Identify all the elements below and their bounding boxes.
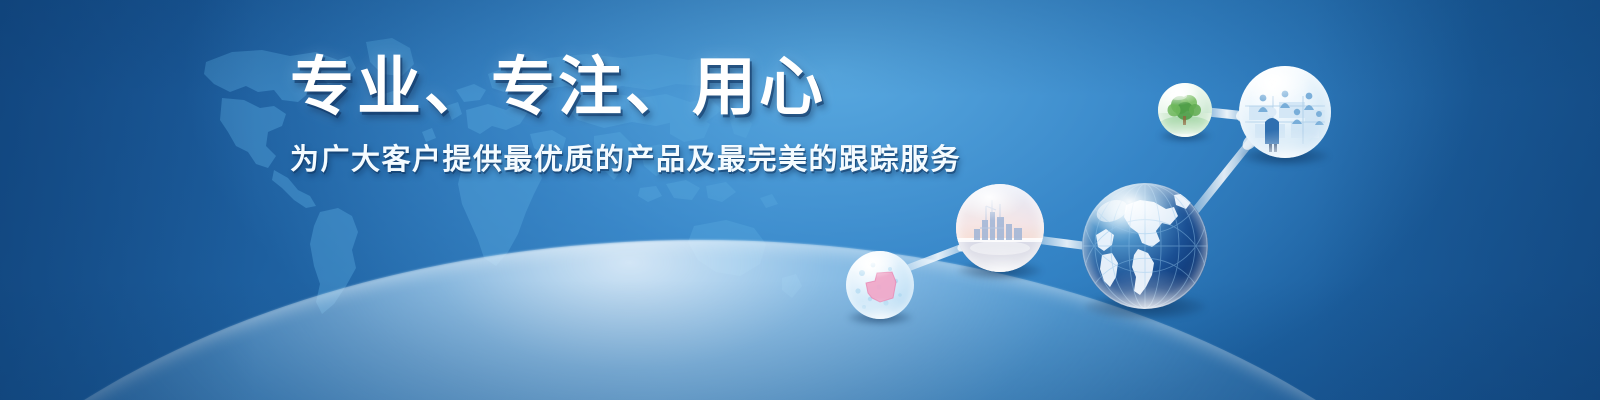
tree-foliage [1168, 95, 1202, 120]
link-people-to-tree [1208, 112, 1246, 116]
link-sunset-to-globe [1040, 240, 1094, 247]
globe-sphere-gloss [1082, 183, 1208, 309]
bubble-nature-tree-body [1158, 83, 1212, 137]
link-map-to-sunset [908, 245, 968, 268]
pink-region-shape [866, 272, 896, 302]
link-flare-c [1240, 131, 1261, 153]
link-globe-to-people [1196, 140, 1252, 210]
globe-sphere-body [1082, 183, 1208, 309]
bubble-nature-tree [1158, 83, 1212, 137]
bubble-nature-tree-gloss [1158, 83, 1212, 137]
globe-sphere [1082, 183, 1208, 309]
page-subtitle: 为广大客户提供最优质的产品及最完美的跟踪服务 [290, 136, 1010, 178]
planet-horizon-edge [0, 240, 1580, 400]
link-flare-d [1236, 109, 1256, 123]
globe-sphere-shadow [1085, 293, 1206, 321]
foreground-figure [1265, 107, 1279, 152]
link-flare-b [1086, 241, 1106, 253]
banner-copy: 专业、专注、用心 为广大客户提供最优质的产品及最完美的跟踪服务 [290, 55, 1010, 178]
bubble-office-people-shadow [1241, 146, 1329, 166]
bubble-industry-gloss [956, 184, 1044, 272]
link-flare-a [956, 238, 976, 254]
bubble-pink-map [846, 251, 914, 319]
bubble-office-people-gloss [1239, 66, 1331, 158]
bubble-pink-map-shadow [847, 310, 912, 325]
bubble-office-people-body [1239, 66, 1331, 158]
bubble-industry-body [956, 184, 1044, 272]
bubble-office-people [1239, 66, 1331, 158]
planet-horizon-glow [0, 240, 1580, 400]
bubble-pink-map-gloss [846, 251, 914, 319]
bubble-nature-tree-shadow [1159, 130, 1211, 142]
bubble-industry-shadow [958, 261, 1042, 280]
bubble-pink-map-body [846, 251, 914, 319]
promo-banner: 专业、专注、用心 为广大客户提供最优质的产品及最完美的跟踪服务 [0, 0, 1600, 400]
bubble-industry [956, 184, 1044, 272]
page-title: 专业、专注、用心 [290, 55, 1010, 120]
